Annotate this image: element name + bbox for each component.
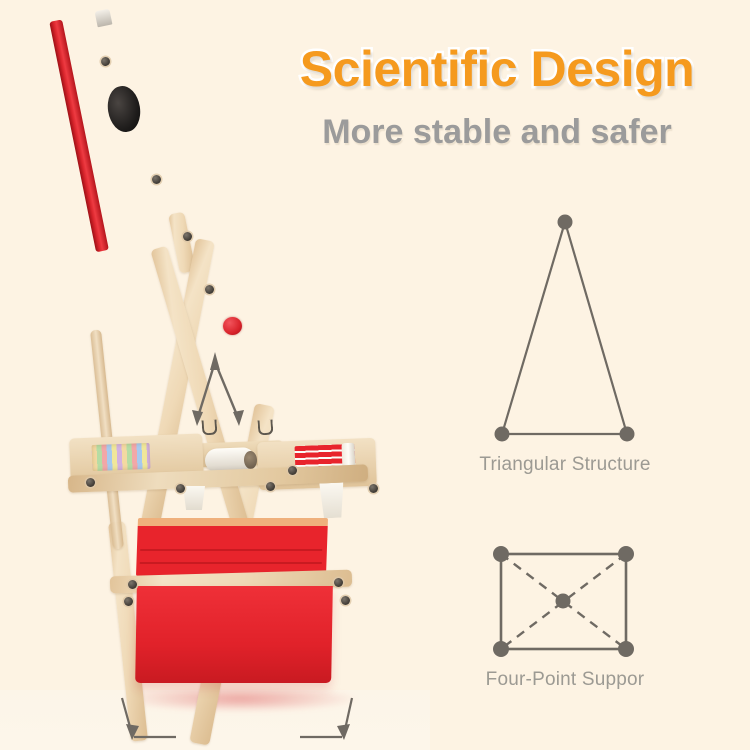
rectangle-outline bbox=[501, 554, 626, 649]
inner-angle-arrowhead bbox=[210, 352, 220, 370]
rect-node-top-left bbox=[493, 546, 509, 562]
rect-node-top-right bbox=[618, 546, 634, 562]
four-point-support-diagram bbox=[493, 546, 634, 657]
subheadline: More stable and safer bbox=[262, 113, 732, 152]
triangle-node-base-right bbox=[620, 427, 635, 442]
headline: Scientific Design bbox=[262, 40, 732, 98]
triangle-outline bbox=[502, 222, 627, 434]
inner-angle-left-line bbox=[197, 362, 215, 420]
triangular-structure-label: Triangular Structure bbox=[415, 454, 715, 476]
inner-angle-right-line bbox=[215, 362, 239, 420]
rect-node-bottom-left bbox=[493, 641, 509, 657]
rect-node-bottom-right bbox=[618, 641, 634, 657]
diagonal-line-a bbox=[501, 554, 626, 649]
rect-node-center bbox=[556, 594, 571, 609]
triangle-node-base-left bbox=[495, 427, 510, 442]
inner-angle-right-arrowhead bbox=[233, 410, 244, 426]
four-point-support-label: Four-Point Suppor bbox=[415, 669, 715, 691]
triangular-structure-diagram bbox=[495, 215, 635, 442]
triangle-node-apex bbox=[558, 215, 573, 230]
diagonal-line-b bbox=[501, 554, 626, 649]
marketing-banner: Scientific Design More stable and safer … bbox=[0, 0, 750, 750]
inner-angle-left-arrowhead bbox=[192, 410, 203, 426]
